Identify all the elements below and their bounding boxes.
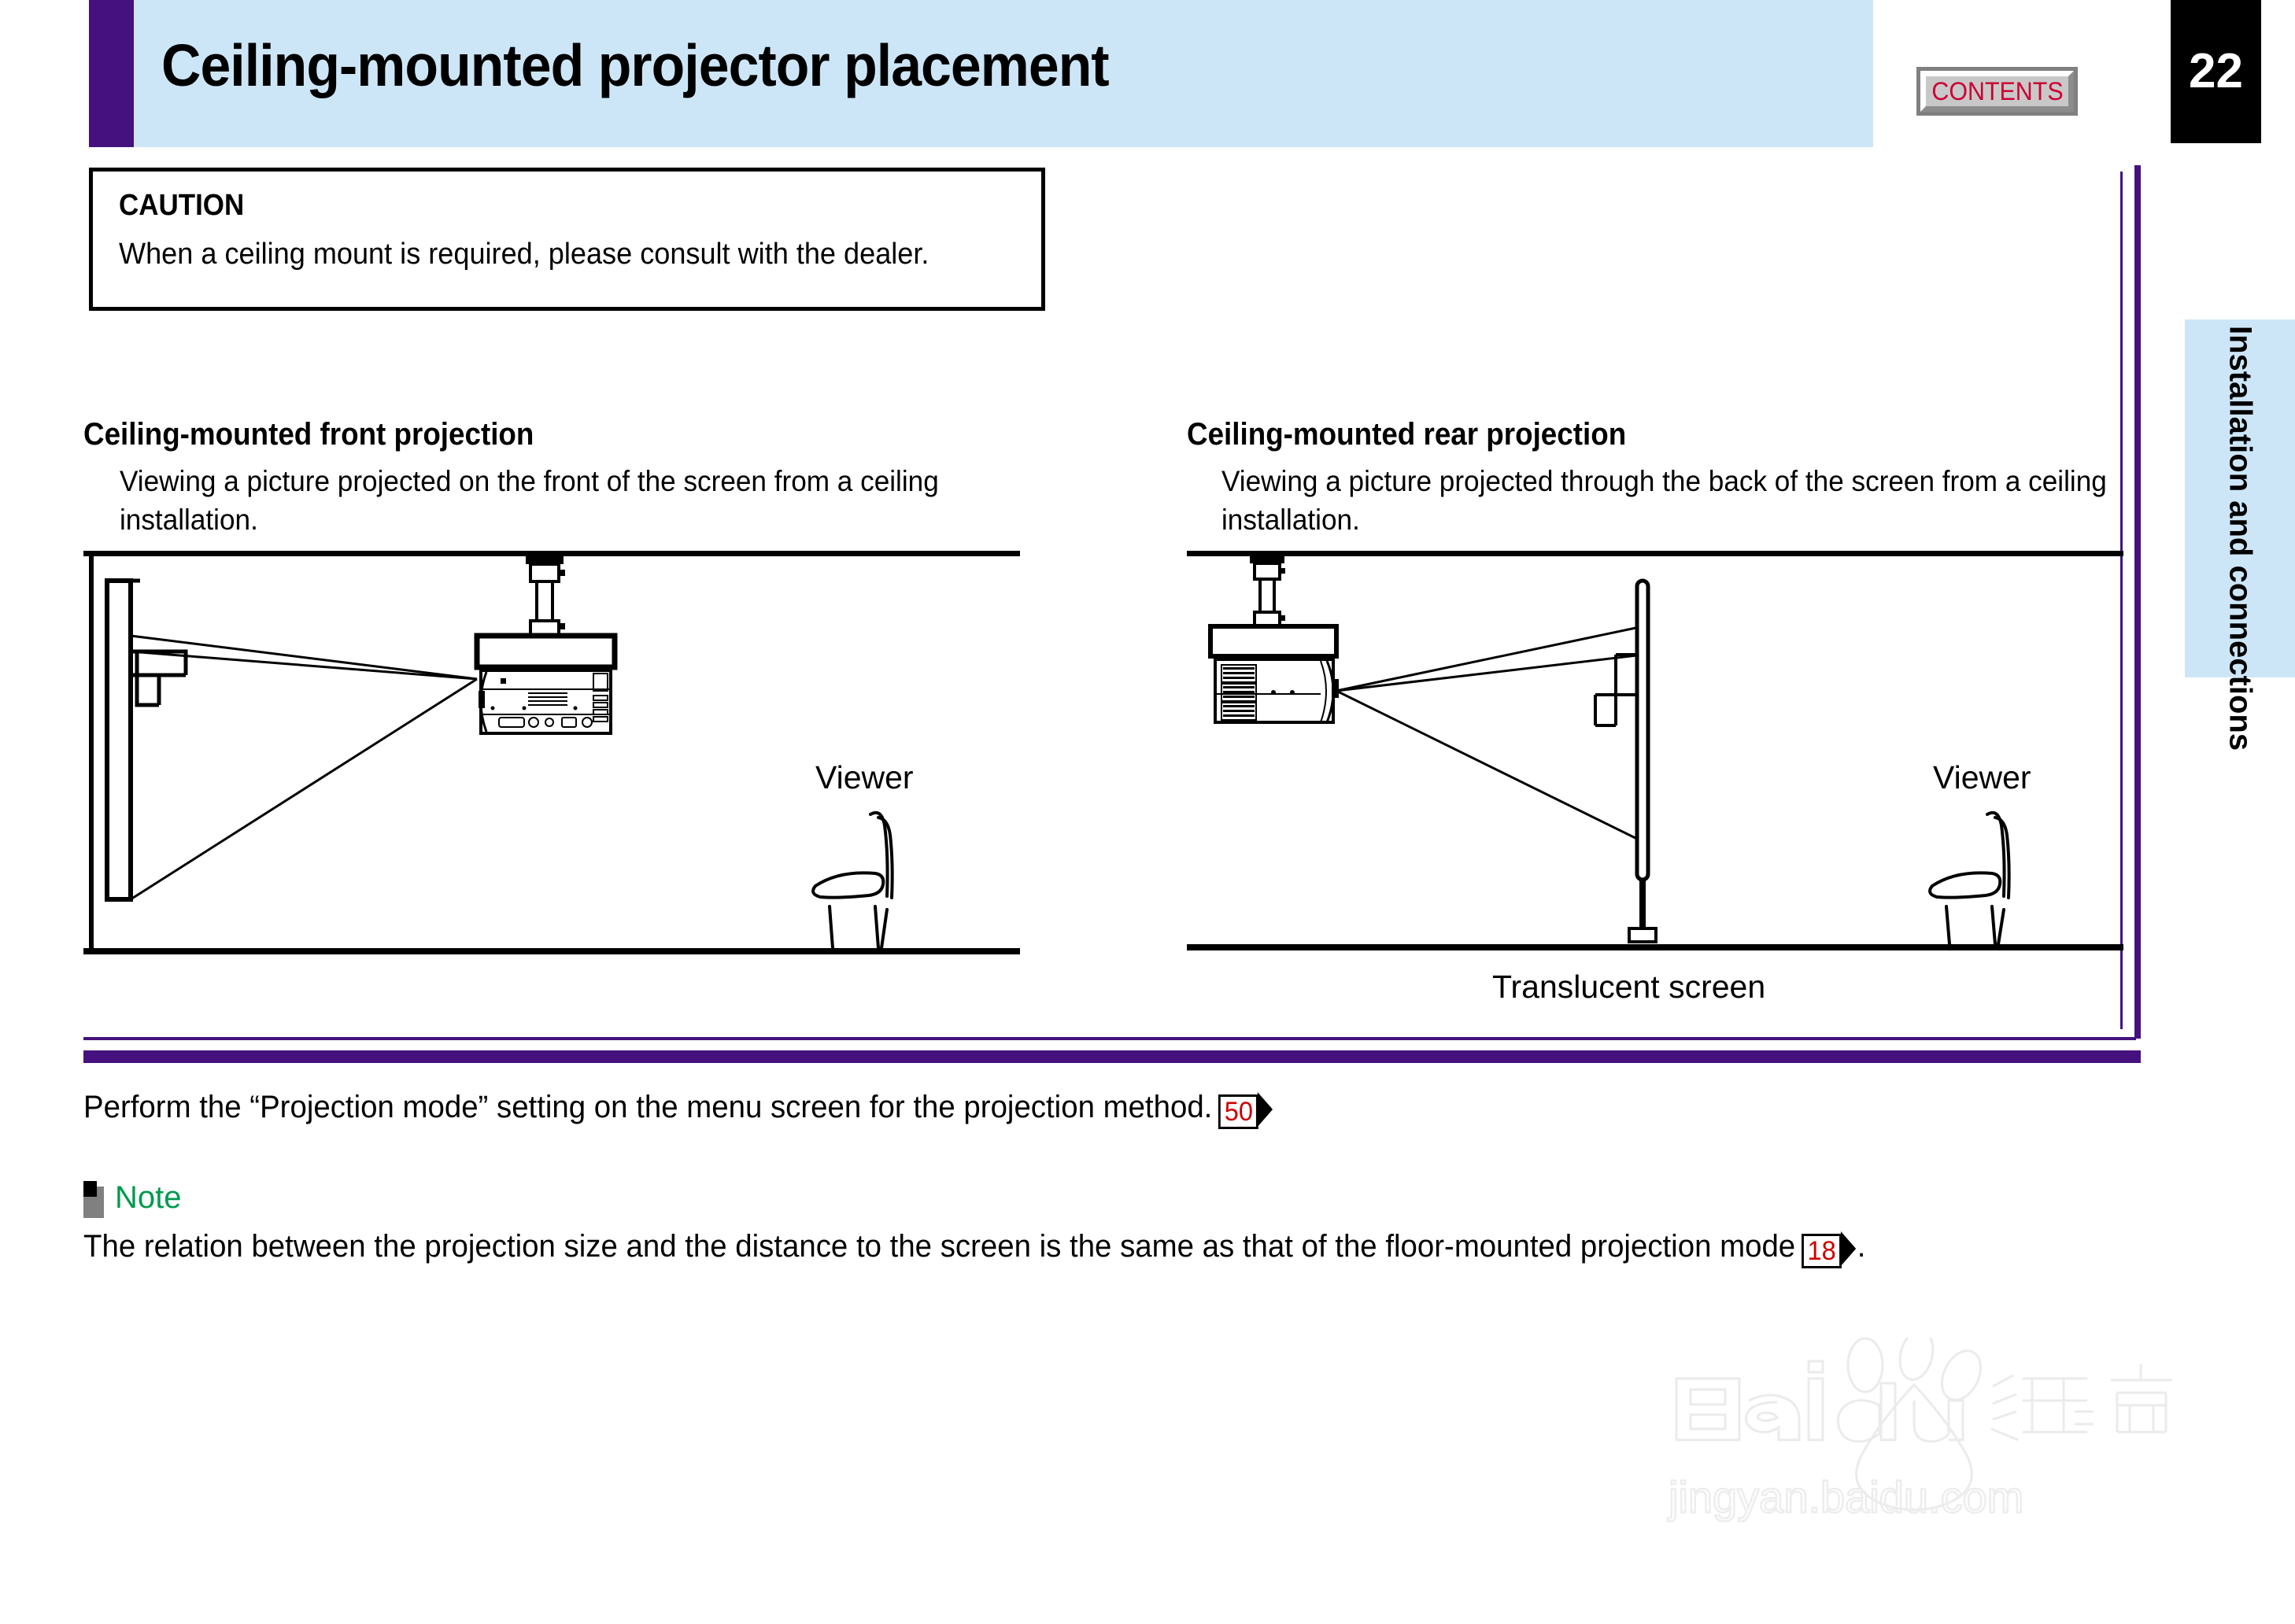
header-accent-bar: [89, 0, 134, 147]
projector-body: [479, 670, 611, 733]
translucent-screen: [1629, 581, 1656, 942]
ceiling-mount-bracket: [526, 554, 565, 638]
section-heading-front-projection: Ceiling-mounted front projection: [83, 417, 534, 452]
viewer-chair: [1930, 813, 2009, 944]
note-text-before: The relation between the projection size…: [83, 1229, 1795, 1264]
page-title: Ceiling-mounted projector placement: [161, 31, 1109, 99]
contents-button[interactable]: CONTENTS: [1920, 71, 2074, 112]
floor-line: [1187, 944, 2123, 950]
viewer-label-front: Viewer: [815, 759, 914, 795]
rear-projection-svg: Viewer Translucent screen: [1187, 551, 2123, 1003]
page-reference-50[interactable]: 50: [1218, 1092, 1273, 1127]
note-text-after: .: [1857, 1229, 1866, 1264]
caution-box: CAUTION When a ceiling mount is required…: [89, 168, 1045, 311]
baidu-watermark: jingyan.baidu.com: [1621, 1338, 2188, 1534]
letter-d-bowl: [1838, 1401, 1879, 1441]
paw-toe-2: [1895, 1338, 1938, 1383]
svg-text:jingyan.baidu.com: jingyan.baidu.com: [1667, 1472, 2023, 1522]
projection-screen: [107, 581, 131, 899]
front-projection-svg: Viewer: [83, 551, 1020, 960]
ceiling-mount-bracket: [1250, 554, 1285, 628]
viewer-chair: [813, 813, 893, 948]
mount-plate: [477, 636, 615, 667]
letter-i: [1809, 1379, 1823, 1440]
projector-body: [1215, 659, 1339, 722]
baidu-watermark-svg: jingyan.baidu.com: [1621, 1338, 2188, 1534]
sidebar-tab-label: Installation and connections: [2223, 326, 2256, 672]
screen-bracket: [1595, 655, 1637, 725]
perform-projection-mode-line: Perform the “Projection mode” setting on…: [83, 1090, 1274, 1127]
page-reference-18[interactable]: 18: [1802, 1231, 1856, 1266]
sidebar-tab-installation-and-connections[interactable]: Installation and connections: [2185, 319, 2295, 677]
letter-u: [1914, 1401, 1963, 1441]
diagram-ceiling-rear-projection: Viewer Translucent screen: [1187, 551, 2123, 1003]
page-reference-arrow-icon: [1841, 1231, 1856, 1266]
screen-mount-detail: [107, 581, 186, 705]
page-number-label: 22: [2171, 0, 2261, 143]
viewer-label-rear: Viewer: [1933, 759, 2031, 795]
note-label: Note: [115, 1180, 182, 1216]
ceiling-line: [1187, 551, 2123, 556]
paw-toe-1: [1848, 1338, 1883, 1392]
page-number-badge: 22: [2171, 0, 2261, 143]
frame-bottom-thick-rule: [83, 1050, 2141, 1063]
note-text-line: The relation between the projection size…: [83, 1229, 1865, 1266]
watermark-url: jingyan.baidu.com: [1667, 1472, 2023, 1522]
note-icon: [83, 1187, 104, 1218]
caution-text: When a ceiling mount is required, please…: [119, 238, 929, 271]
projection-beam: [1336, 626, 1643, 842]
page-reference-arrow-icon: [1258, 1092, 1273, 1127]
translucent-screen-label: Translucent screen: [1492, 969, 1765, 1003]
page-reference-50-number: 50: [1218, 1094, 1258, 1129]
paw-toe-3: [1935, 1345, 1988, 1407]
letter-d-stem: [1881, 1383, 1895, 1440]
diagram-ceiling-front-projection: Viewer: [83, 551, 1020, 960]
perform-projection-mode-text: Perform the “Projection mode” setting on…: [83, 1090, 1212, 1124]
letter-i-dot: [1809, 1361, 1823, 1372]
left-wall-line: [89, 551, 94, 954]
paw-pad: [1857, 1385, 1972, 1510]
caution-heading: CAUTION: [119, 189, 244, 223]
section-description-rear-projection: Viewing a picture projected through the …: [1221, 463, 2193, 540]
section-description-front-projection: Viewing a picture projected on the front…: [120, 463, 1017, 540]
mount-plate: [1210, 626, 1336, 656]
frame-right-outer-rule: [2134, 165, 2141, 1039]
page-reference-18-number: 18: [1802, 1234, 1842, 1268]
letter-B-outer: [1676, 1379, 1739, 1440]
section-heading-rear-projection: Ceiling-mounted rear projection: [1187, 417, 1626, 452]
frame-bottom-thin-rule: [83, 1037, 2136, 1040]
contents-button-label: CONTENTS: [1931, 77, 2063, 106]
